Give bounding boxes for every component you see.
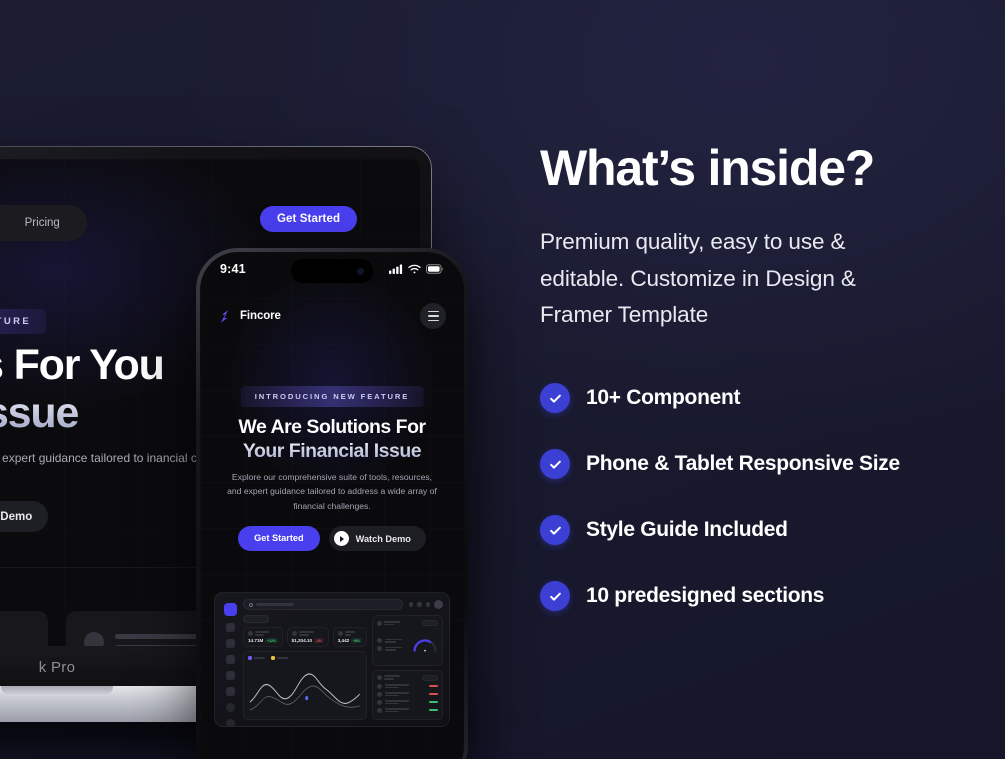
- stat-label: [299, 631, 324, 635]
- play-icon: [334, 531, 349, 546]
- stat-icon: [292, 631, 297, 636]
- phone-badge: INTRODUCING NEW FEATURE: [241, 386, 424, 407]
- stat-header: [248, 631, 278, 636]
- line-chart: [248, 663, 362, 715]
- front-camera-icon: [357, 268, 364, 275]
- stat-value: $1,204.10 -4%: [292, 638, 324, 643]
- legend-item-purple: [248, 656, 265, 660]
- check-icon: [540, 581, 570, 611]
- notification-icon[interactable]: [426, 602, 431, 607]
- battery-icon: [426, 264, 444, 274]
- dashboard-sidebar: [221, 599, 239, 720]
- phone-watch-demo-button[interactable]: Watch Demo: [329, 526, 426, 551]
- dashboard-chart-card: [243, 651, 367, 720]
- view-all-button[interactable]: [422, 675, 438, 681]
- hamburger-icon[interactable]: [420, 303, 446, 329]
- dashboard-main: 14.71M +12%: [239, 599, 443, 720]
- list-rows: [377, 684, 438, 716]
- fincore-logo-icon: [218, 309, 233, 324]
- dashboard-body: 14.71M +12%: [243, 615, 443, 720]
- feature-label: Style Guide Included: [586, 518, 788, 542]
- feature-item: Style Guide Included: [540, 510, 980, 550]
- stat-label: [345, 631, 362, 635]
- dynamic-island: [291, 259, 373, 283]
- gauge-card-header: [377, 620, 438, 626]
- brand-name: Fincore: [240, 310, 281, 322]
- phone-watch-demo-label: Watch Demo: [356, 534, 411, 544]
- dashboard-nav-icon[interactable]: [226, 671, 235, 680]
- laptop-nav: Feature Pricing: [0, 205, 87, 241]
- dashboard-topbar-icons: [409, 600, 444, 609]
- page-subtitle: Premium quality, easy to use & editable.…: [540, 224, 925, 334]
- feature-item: 10 predesigned sections: [540, 576, 980, 616]
- wifi-icon: [408, 264, 421, 274]
- stat-header: [338, 631, 362, 636]
- phone-headline-line1: We Are Solutions For: [216, 416, 448, 440]
- phone-nav-bar: Fincore: [200, 300, 464, 332]
- brand-logo[interactable]: Fincore: [218, 309, 281, 324]
- stat-value: 3,442 +8%: [338, 638, 362, 643]
- status-time: 9:41: [220, 262, 246, 276]
- dashboard-preview: 14.71M +12%: [214, 592, 450, 727]
- phone-screen: 9:41: [200, 252, 464, 759]
- list-item: [377, 708, 438, 713]
- stat-label: [255, 631, 278, 635]
- dashboard-search-input[interactable]: [243, 599, 403, 610]
- laptop-nav-item-feature[interactable]: Feature: [0, 214, 8, 232]
- stat-card: 3,442 +8%: [333, 627, 367, 647]
- check-icon: [540, 515, 570, 545]
- stat-card: $1,204.10 -4%: [287, 627, 329, 647]
- stat-value: 14.71M +12%: [248, 638, 278, 643]
- dashboard-nav-icon[interactable]: [226, 719, 235, 727]
- gauge-legend-row: [377, 646, 409, 651]
- phone-mockup: 9:41: [196, 248, 468, 759]
- list-item: [377, 700, 438, 705]
- laptop-card-lines: [0, 634, 30, 646]
- period-selector[interactable]: [243, 615, 269, 623]
- stat-card: 14.71M +12%: [243, 627, 283, 647]
- laptop-nav-item-pricing[interactable]: Pricing: [14, 214, 71, 232]
- laptop-get-started-button[interactable]: Get Started: [260, 206, 357, 232]
- right-panel: What’s inside? Premium quality, easy to …: [540, 142, 980, 642]
- card-icon: [377, 621, 382, 626]
- feature-label: 10+ Component: [586, 386, 740, 410]
- laptop-watch-demo-button[interactable]: Watch Demo: [0, 501, 48, 532]
- help-icon[interactable]: [409, 602, 414, 607]
- settings-icon[interactable]: [417, 602, 422, 607]
- dashboard-nav-icon[interactable]: [226, 687, 235, 696]
- dashboard-stat-row: 14.71M +12%: [243, 627, 367, 647]
- chart-legend: [248, 656, 362, 660]
- feature-label: 10 predesigned sections: [586, 584, 824, 608]
- legend-item-yellow: [271, 656, 288, 660]
- phone-headline: We Are Solutions For Your Financial Issu…: [200, 416, 464, 464]
- legend-label: [277, 657, 288, 659]
- laptop-card-avatar: [84, 632, 104, 646]
- list-item: [377, 684, 438, 689]
- phone-get-started-button[interactable]: Get Started: [238, 526, 320, 551]
- legend-label: [254, 657, 265, 659]
- feature-list: 10+ Component Phone & Tablet Responsive …: [540, 378, 980, 616]
- avatar[interactable]: [434, 600, 443, 609]
- gauge-legend-row: [377, 638, 409, 643]
- list-item: [377, 692, 438, 697]
- status-indicators: [389, 264, 444, 274]
- dashboard-nav-icon[interactable]: [226, 639, 235, 648]
- card-icon: [377, 675, 382, 680]
- gauge-card: [372, 615, 443, 666]
- dashboard-topbar: [243, 599, 443, 610]
- list-card-header: [377, 675, 438, 681]
- dashboard-nav-icon[interactable]: [226, 623, 235, 632]
- check-icon: [540, 449, 570, 479]
- gauge-chart: [412, 637, 438, 652]
- dashboard-logo-icon: [224, 603, 237, 616]
- legend-swatch: [271, 656, 275, 660]
- check-icon: [540, 383, 570, 413]
- poster-canvas: Feature Pricing Get Started EW FEATURE o…: [0, 0, 1005, 759]
- view-all-button[interactable]: [422, 620, 438, 626]
- laptop-button-row: Watch Demo: [0, 501, 48, 532]
- stat-header: [292, 631, 324, 636]
- dashboard-nav-icon[interactable]: [226, 703, 235, 712]
- stat-icon: [338, 631, 343, 636]
- feature-item: Phone & Tablet Responsive Size: [540, 444, 980, 484]
- stat-icon: [248, 631, 253, 636]
- dashboard-left-column: 14.71M +12%: [243, 615, 367, 720]
- laptop-watch-demo-label: Watch Demo: [0, 511, 32, 523]
- phone-paragraph: Explore our comprehensive suite of tools…: [200, 470, 464, 513]
- search-placeholder: [256, 603, 294, 606]
- signal-icon: [389, 264, 403, 274]
- phone-headline-line2: Your Financial Issue: [216, 440, 448, 464]
- feature-label: Phone & Tablet Responsive Size: [586, 452, 900, 476]
- list-card: [372, 670, 443, 721]
- page-title: What’s inside?: [540, 142, 980, 194]
- search-icon: [249, 603, 253, 607]
- laptop-model-label: k Pro: [39, 659, 76, 676]
- dashboard-right-column: [372, 615, 443, 720]
- laptop-badge: EW FEATURE: [0, 309, 46, 334]
- legend-swatch: [248, 656, 252, 660]
- laptop-placeholder-card: [0, 611, 48, 646]
- dashboard-nav-icon[interactable]: [226, 655, 235, 664]
- phone-button-row: Get Started Watch Demo: [200, 526, 464, 551]
- feature-item: 10+ Component: [540, 378, 980, 418]
